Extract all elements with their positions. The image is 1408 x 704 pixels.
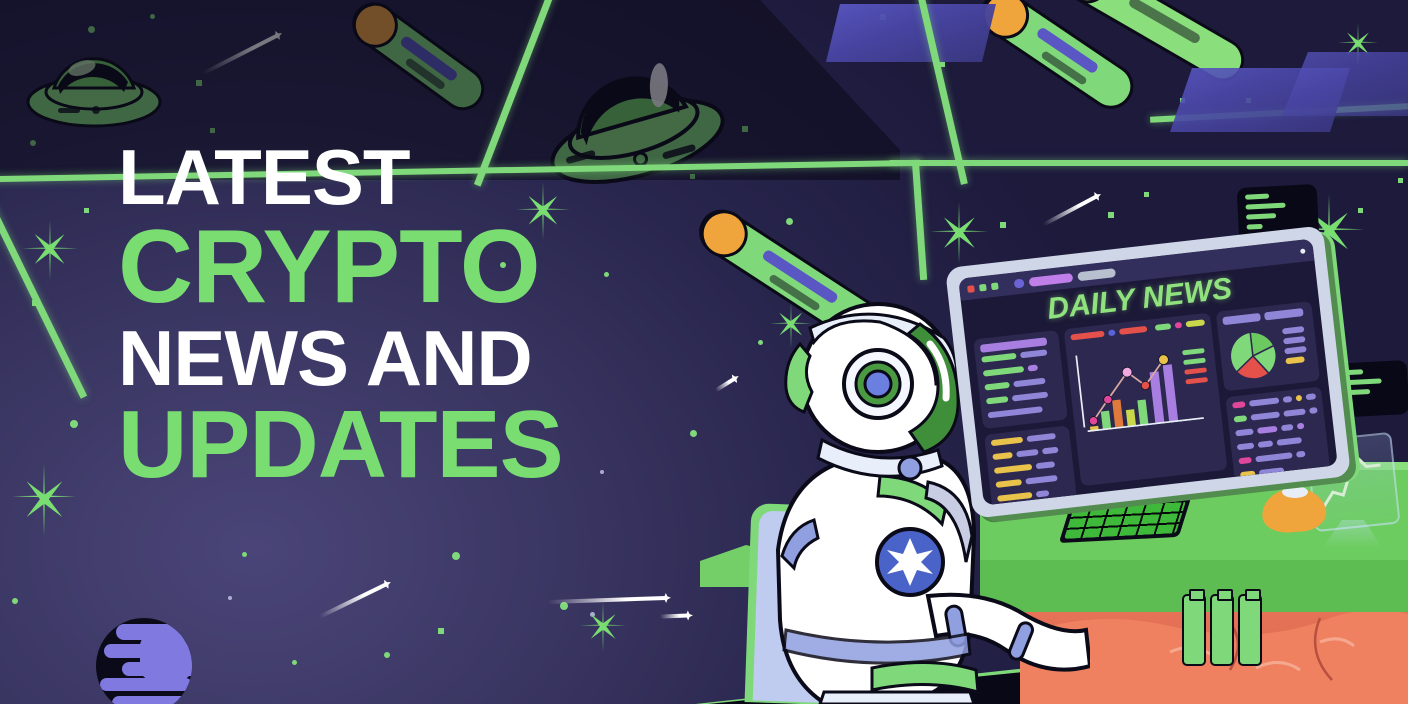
headline-line-1: LATEST — [118, 140, 738, 214]
headline-block: LATEST CRYPTO NEWS AND UPDATES — [118, 140, 738, 494]
headline-line-2: CRYPTO — [118, 218, 738, 317]
headline-line-3: NEWS AND — [118, 321, 738, 395]
hero-banner: LATEST CRYPTO NEWS AND UPDATES — [0, 0, 1408, 704]
beam-diagonal-3 — [0, 189, 87, 399]
beam-vertical-center — [912, 160, 927, 280]
window-glass-3 — [1282, 52, 1408, 116]
beam-horizontal-right — [890, 160, 1408, 166]
window-glass-1 — [826, 4, 996, 62]
headline-line-4: UPDATES — [118, 399, 738, 490]
